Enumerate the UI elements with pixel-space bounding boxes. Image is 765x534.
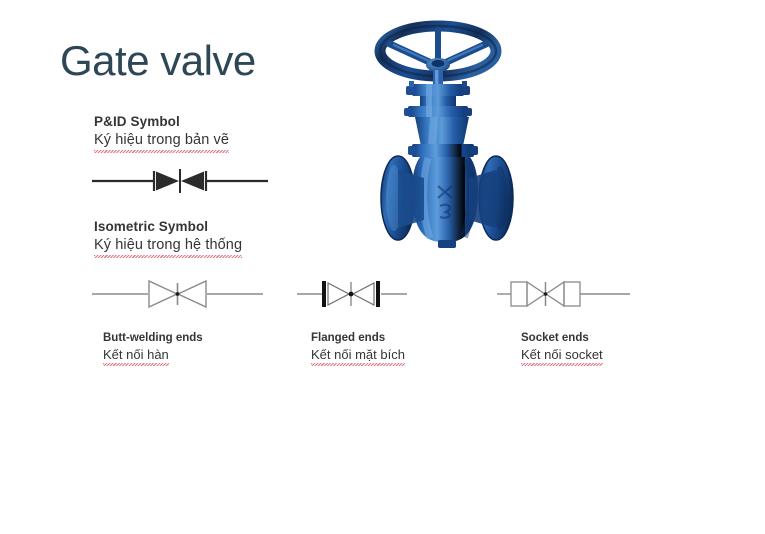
caption-butt-welding-vi: Kết nối hàn [103, 346, 169, 364]
caption-socket-en: Socket ends [521, 330, 603, 346]
caption-butt-welding-en: Butt-welding ends [103, 330, 203, 346]
slide-canvas: Gate valve P&ID Symbol Ký hiệu trong bản… [0, 0, 765, 534]
isometric-symbol-label-vi-wrap: Ký hiệu trong hệ thống [94, 236, 242, 256]
pid-symbol-label-vi: Ký hiệu trong bản vẽ [94, 131, 229, 151]
valve-bonnet [415, 117, 469, 146]
caption-socket-vi-wrap: Kết nối socket [521, 346, 603, 364]
valve-bottom-boss [438, 240, 456, 248]
valve-flange-right [469, 156, 513, 240]
gate-valve-flanged-symbol [295, 277, 470, 316]
caption-flanged-vi-wrap: Kết nối mặt bích [311, 346, 405, 364]
gate-valve-butt-welding-symbol [90, 277, 265, 316]
gate-valve-socket-symbol [495, 277, 670, 316]
pid-symbol-label-group: P&ID Symbol Ký hiệu trong bản vẽ [94, 113, 229, 151]
caption-socket-vi: Kết nối socket [521, 346, 603, 364]
pid-symbol-label-vi-wrap: Ký hiệu trong bản vẽ [94, 131, 229, 151]
isometric-symbol-label-group: Isometric Symbol Ký hiệu trong hệ thống [94, 218, 242, 256]
valve-handwheel [380, 26, 496, 76]
caption-flanged: Flanged ends Kết nối mặt bích [311, 330, 405, 364]
caption-flanged-en: Flanged ends [311, 330, 405, 346]
caption-butt-welding-vi-wrap: Kết nối hàn [103, 346, 203, 364]
caption-butt-welding: Butt-welding ends Kết nối hàn [103, 330, 203, 364]
caption-flanged-vi: Kết nối mặt bích [311, 346, 405, 364]
valve-yoke [404, 81, 472, 117]
gate-valve-photo [368, 18, 578, 275]
isometric-symbol-label-en: Isometric Symbol [94, 218, 242, 236]
pid-symbol-label-en: P&ID Symbol [94, 113, 229, 131]
page-title: Gate valve [60, 40, 256, 82]
gate-valve-pid-symbol [90, 165, 270, 202]
isometric-symbol-label-vi: Ký hiệu trong hệ thống [94, 236, 242, 256]
valve-bonnet-flange [412, 144, 474, 157]
caption-socket: Socket ends Kết nối socket [521, 330, 603, 364]
